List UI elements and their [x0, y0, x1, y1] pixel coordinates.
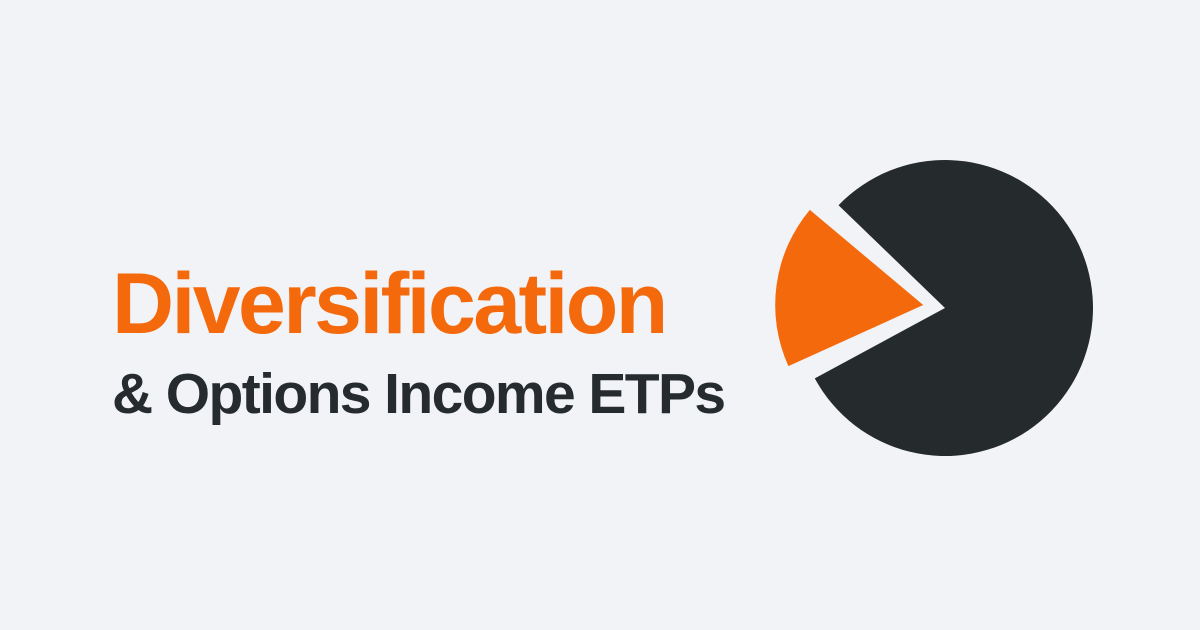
- pie-chart-svg: [770, 135, 1120, 485]
- graphic-canvas: Diversification & Options Income ETPs: [0, 0, 1200, 630]
- text-block: Diversification & Options Income ETPs: [112, 262, 772, 423]
- pie-chart: [770, 135, 1120, 485]
- page-subtitle: & Options Income ETPs: [112, 346, 772, 423]
- page-title: Diversification: [112, 262, 772, 346]
